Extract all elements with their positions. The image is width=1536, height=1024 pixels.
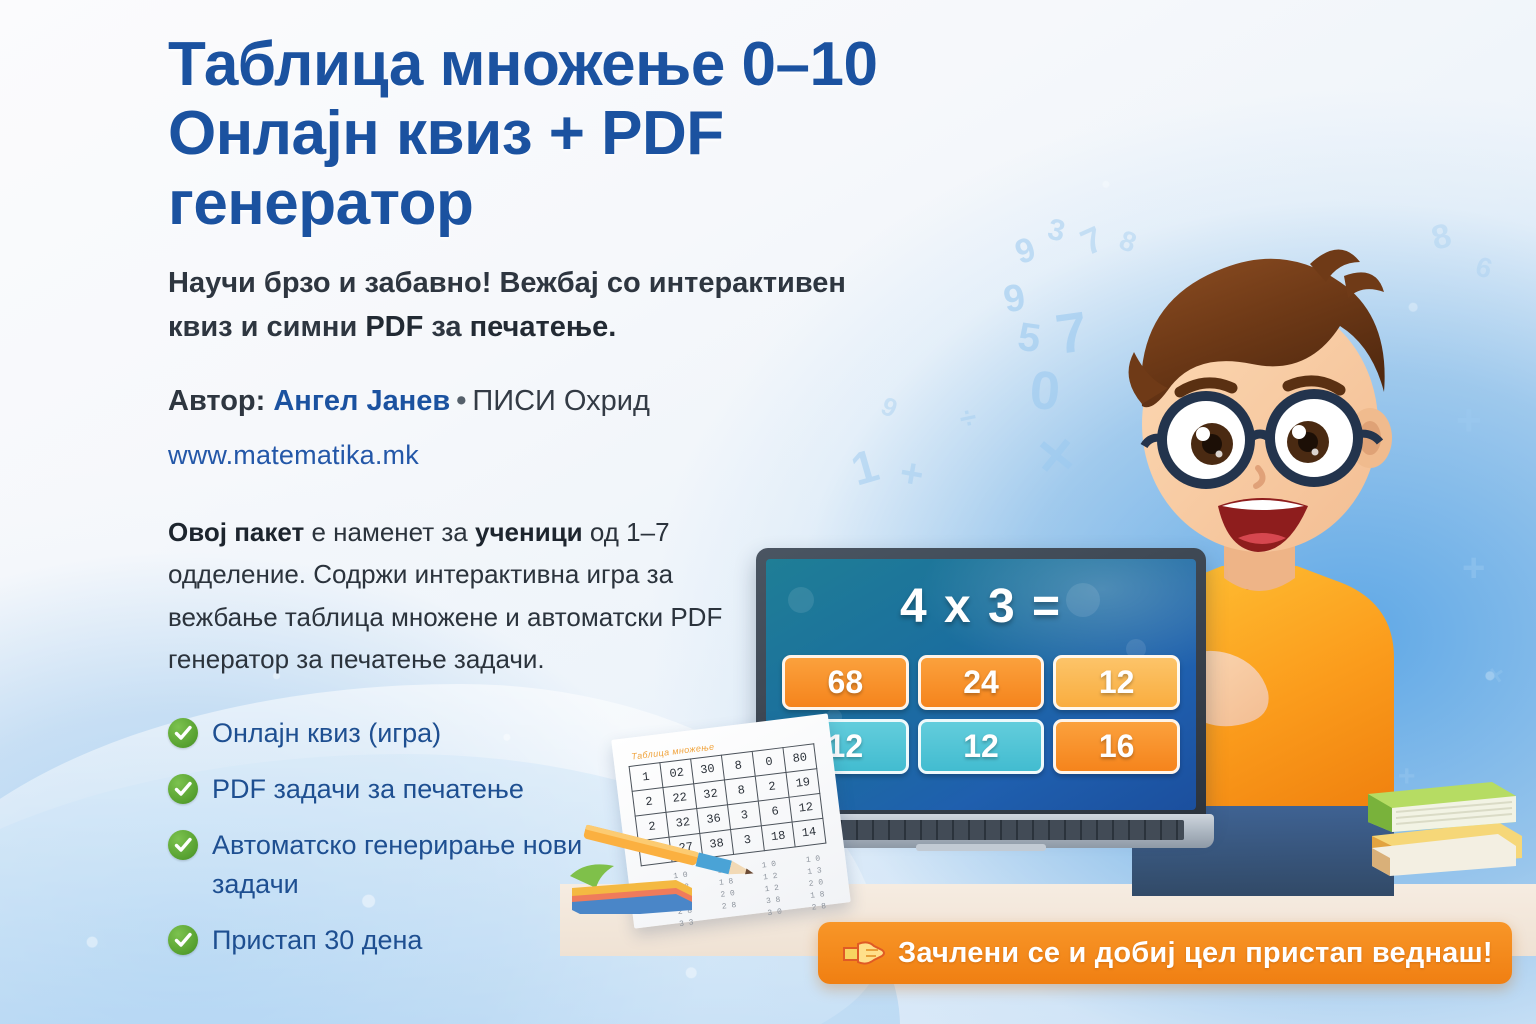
- website-link[interactable]: www.matematika.mk: [168, 440, 888, 471]
- worksheet-cell: 36: [697, 805, 731, 834]
- worksheet-cell: 32: [694, 780, 728, 809]
- worksheet-answer-column: 1 0 1 2 1 2 3 8 3 0: [761, 859, 783, 920]
- worksheet-answer-column: 1 0 1 3 2 0 1 8 2 8: [805, 853, 827, 914]
- check-circle-icon: [168, 774, 198, 804]
- worksheet-cell: 3: [728, 801, 762, 830]
- worksheet-cell: 6: [758, 797, 792, 826]
- quiz-equation: 4 x 3 =: [766, 579, 1196, 634]
- cta-banner[interactable]: Зачлени се и добиј цел пристап веднаш!: [818, 922, 1512, 984]
- page-title: Таблица множење 0–10 Онлајн квиз + PDF г…: [168, 30, 888, 238]
- description-bold-package: Овој пакет: [168, 517, 304, 547]
- description-mid-1: е наменет за: [304, 517, 475, 547]
- quiz-answer-button[interactable]: 12: [918, 719, 1045, 774]
- description-bold-students: ученици: [475, 517, 583, 547]
- quiz-answer-button[interactable]: 12: [1053, 655, 1180, 710]
- title-line-1: Таблица множење 0–10: [168, 30, 877, 99]
- author-separator: •: [450, 385, 472, 417]
- decorative-math-glyph: ×: [1485, 659, 1505, 692]
- feature-label: Пристап 30 дена: [212, 921, 422, 959]
- quiz-answer-button[interactable]: 24: [918, 655, 1045, 710]
- worksheet-cell: 19: [786, 769, 820, 798]
- book-stack-left: [566, 858, 696, 914]
- decorative-math-glyph: +: [1456, 396, 1482, 446]
- decorative-math-glyph: +: [896, 450, 927, 498]
- quiz-answer-button[interactable]: 16: [1053, 719, 1180, 774]
- quiz-answer-grid: 682412121216: [782, 655, 1180, 774]
- worksheet-cell: 8: [724, 776, 758, 805]
- worksheet-cell: 32: [666, 809, 700, 838]
- author-label: Автор:: [168, 385, 265, 417]
- worksheet-cell: 2: [632, 788, 666, 817]
- subtitle-bold-pdf: PDF: [365, 311, 423, 343]
- worksheet-cell: 18: [761, 822, 795, 851]
- title-line-2: Онлајн квиз + PDF генератор: [168, 99, 888, 238]
- check-circle-icon: [168, 830, 198, 860]
- subtitle: Научи брзо и забавно! Вежбај со интеракт…: [168, 262, 848, 349]
- decorative-math-glyph: 9: [1000, 276, 1028, 322]
- check-circle-icon: [168, 925, 198, 955]
- pointing-hand-icon: [840, 936, 886, 970]
- cta-label: Зачлени се и добиј цел пристап веднаш!: [898, 937, 1493, 970]
- subtitle-bold-print: печатење.: [470, 311, 617, 343]
- author-name: Ангел Јанев: [273, 385, 450, 417]
- worksheet-cell: 2: [755, 772, 789, 801]
- decorative-math-glyph: 9: [1010, 230, 1040, 273]
- worksheet-cell: 12: [789, 793, 823, 822]
- decorative-math-glyph: +: [1462, 546, 1485, 591]
- decorative-math-glyph: 5: [1015, 315, 1043, 363]
- worksheet-cell: 0: [752, 748, 786, 777]
- subtitle-part-2: за: [423, 311, 469, 343]
- quiz-answer-button[interactable]: 68: [782, 655, 909, 710]
- laptop-trackpad[interactable]: [916, 844, 1046, 851]
- worksheet-cell: 22: [663, 784, 697, 813]
- promo-poster: 93789570×1+÷9++86+× Таблица множење 0–10…: [0, 0, 1536, 1024]
- description-paragraph: Овој пакет е наменет за ученици од 1–7 о…: [168, 511, 768, 679]
- decorative-math-glyph: 6: [1472, 250, 1496, 285]
- worksheet-cell: 80: [783, 744, 817, 773]
- decorative-math-glyph: 0: [1028, 359, 1062, 423]
- author-line: Автор: Ангел Јанев•ПИСИ Охрид: [168, 385, 888, 418]
- book-stack-right: [1366, 770, 1526, 880]
- author-organization: ПИСИ Охрид: [472, 385, 650, 417]
- worksheet-cell: 8: [721, 751, 755, 780]
- worksheet-cell: 3: [731, 826, 765, 855]
- worksheet-cell: 30: [691, 755, 725, 784]
- decorative-math-glyph: 3: [1045, 213, 1068, 250]
- feature-label: PDF задачи за печатење: [212, 770, 524, 808]
- decorative-math-glyph: ÷: [957, 401, 980, 438]
- feature-label: Онлајн квиз (игра): [212, 714, 441, 752]
- worksheet-cell: 14: [792, 818, 826, 847]
- check-circle-icon: [168, 718, 198, 748]
- worksheet-cell: 02: [660, 759, 694, 788]
- worksheet-cell: 1: [629, 763, 663, 792]
